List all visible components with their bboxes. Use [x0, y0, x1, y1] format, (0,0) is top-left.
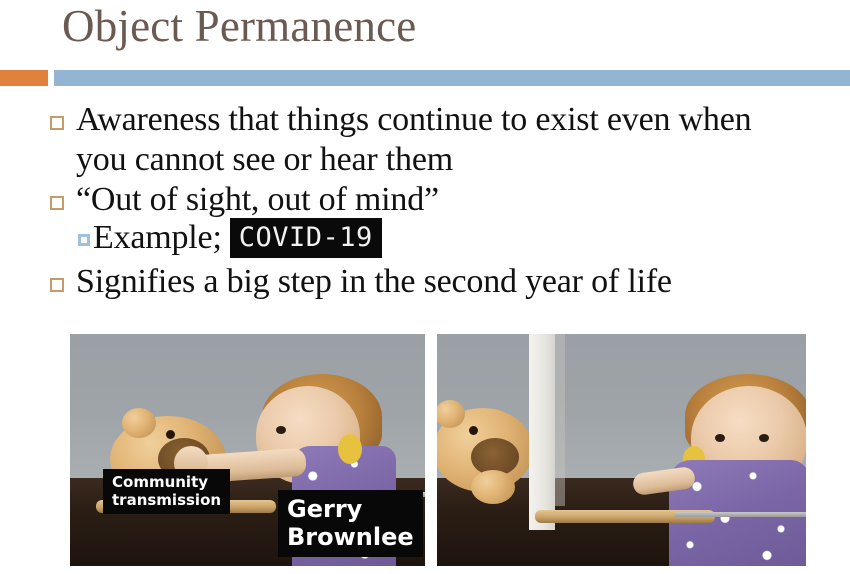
baby-eye [759, 434, 769, 442]
teddy-bear-paw [471, 470, 515, 504]
occluding-screen [529, 334, 555, 530]
hollow-square-bullet-icon [50, 116, 64, 130]
hollow-square-bullet-icon [50, 196, 64, 210]
teddy-bear-eye [469, 426, 478, 435]
photo-bear-hidden-behind-screen [437, 334, 806, 566]
bullet-item-2: “Out of sight, out of mind” [0, 180, 850, 220]
baby-bib [338, 434, 362, 464]
baby-eye [715, 434, 725, 442]
divider-accent-blue [54, 70, 850, 86]
caption-community-transmission: Community transmission [103, 469, 230, 514]
photo-baby-reaching-for-bear: Community transmission Gerry Brownlee [70, 334, 425, 566]
filled-square-bullet-icon [78, 234, 90, 246]
bullet-item-3-sub: Example; COVID-19 [0, 218, 850, 258]
bullet-item-3-line: Example; COVID-19 [93, 218, 382, 258]
caption-gerry-brownlee: Gerry Brownlee [278, 490, 423, 557]
bullet-item-1-text: Awareness that things continue to exist … [76, 100, 776, 180]
occluding-screen-shadow [555, 334, 565, 506]
page-title: Object Permanence [62, 0, 416, 54]
teddy-bear-eye [166, 430, 175, 439]
tray-edge [675, 512, 806, 517]
hollow-square-bullet-icon [50, 278, 64, 292]
photo-strip: Community transmission Gerry Brownlee [70, 334, 806, 566]
bullet-item-4-text: Signifies a big step in the second year … [76, 262, 672, 302]
covid-19-highlight-label: COVID-19 [230, 218, 382, 258]
bullet-item-1: Awareness that things continue to exist … [0, 100, 850, 180]
slide-object-permanence: Object Permanence Awareness that things … [0, 0, 850, 574]
bullet-item-3-text: Example; [93, 218, 222, 258]
baby-eye [276, 426, 286, 434]
teddy-bear-ear [122, 408, 156, 438]
bullet-list: Awareness that things continue to exist … [0, 100, 850, 302]
bullet-item-4: Signifies a big step in the second year … [0, 262, 850, 302]
title-divider [0, 70, 850, 86]
divider-accent-orange [0, 70, 48, 86]
bullet-item-2-text: “Out of sight, out of mind” [76, 180, 439, 220]
